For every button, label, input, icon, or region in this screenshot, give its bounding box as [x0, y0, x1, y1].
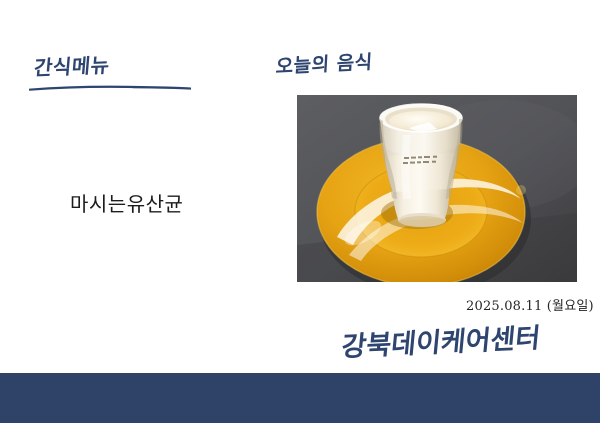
menu-item-text: 마시는유산균	[70, 188, 183, 217]
snack-menu-underline-stroke	[29, 84, 191, 91]
center-name-signature: 강북데이케어센터	[340, 316, 542, 364]
snack-menu-title: 간식메뉴	[33, 49, 111, 81]
todays-food-title: 오늘의 음식	[275, 47, 373, 79]
footer-bar	[0, 373, 600, 423]
food-photo	[297, 95, 577, 282]
date-text: 2025.08.11 (월요일)	[466, 295, 594, 314]
menu-card-page: 간식메뉴 오늘의 음식 마시는유산균	[0, 0, 600, 423]
